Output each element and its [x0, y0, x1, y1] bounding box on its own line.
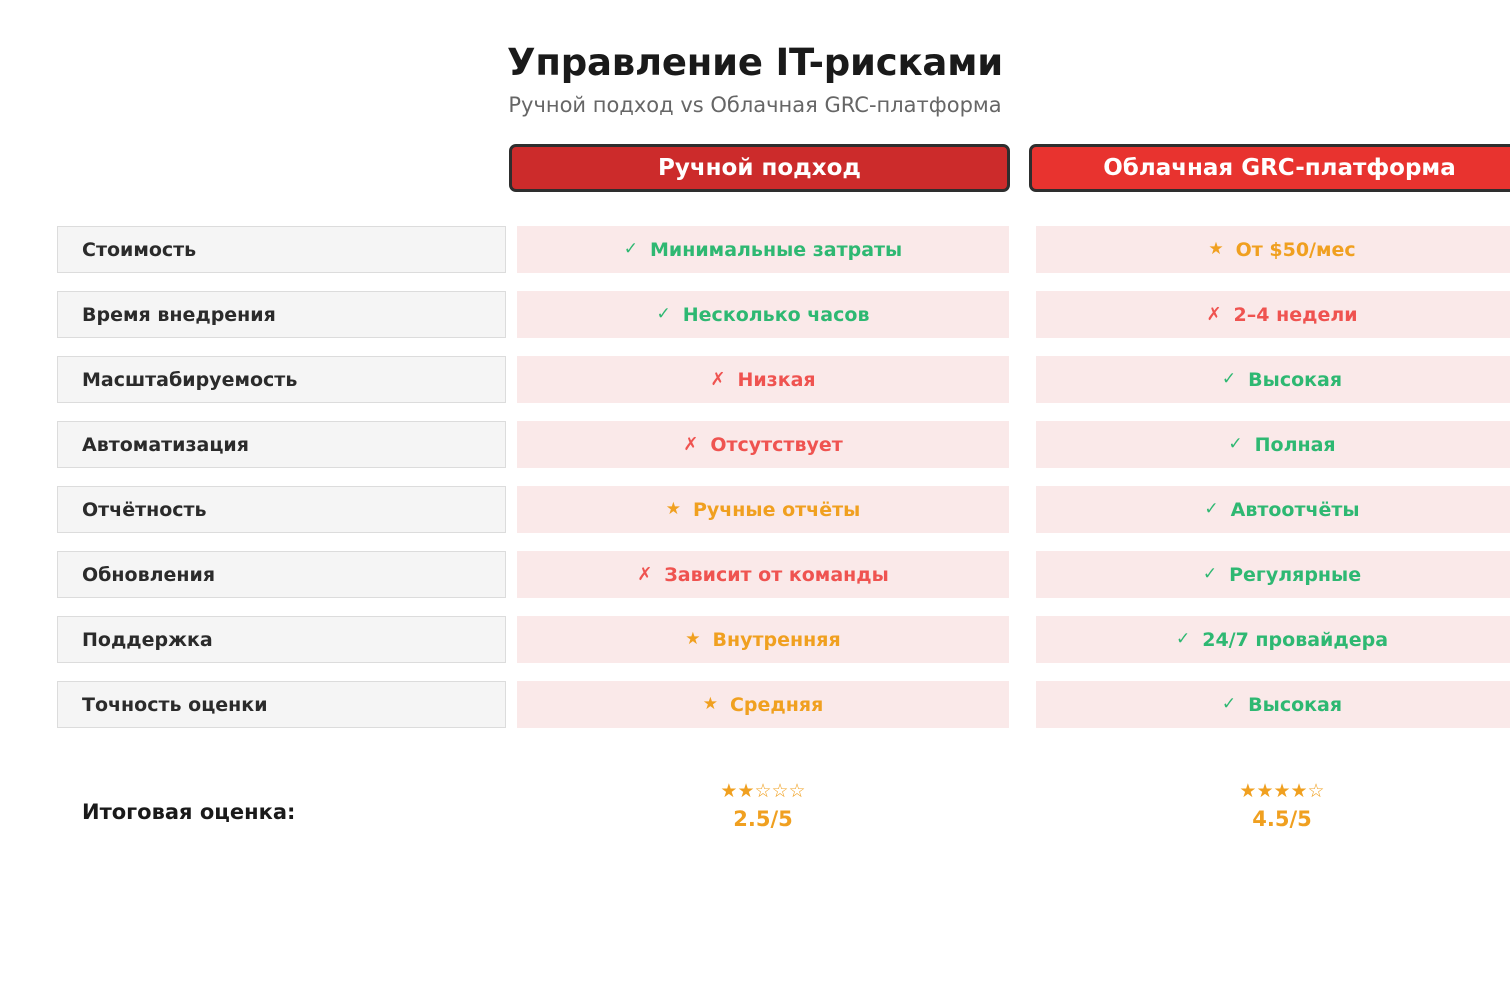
comparison-infographic: Управление IT-рисками Ручной подход vs О… [0, 0, 1510, 983]
cross-icon: ✗ [637, 566, 652, 584]
cell-text: 2–4 недели [1234, 304, 1358, 326]
table-row: Точность оценки ★ Средняя ✓ Высокая [0, 681, 1510, 746]
rating-score: 4.5/5 [1036, 809, 1510, 830]
cell-text: Внутренняя [713, 629, 841, 651]
star-icon: ★ [685, 631, 700, 648]
cell-manual: ★ Ручные отчёты [517, 486, 1009, 533]
cell-text: Полная [1255, 434, 1336, 456]
cross-icon: ✗ [1206, 306, 1221, 324]
cell-text: Отсутствует [710, 434, 842, 456]
column-header-cloud[interactable]: Облачная GRC-платформа [1029, 144, 1510, 192]
comparison-rows: Стоимость ✓ Минимальные затраты ★ От $50… [0, 226, 1510, 746]
page-title: Управление IT-рисками [0, 44, 1510, 81]
cell-text: От $50/мес [1236, 239, 1356, 261]
star-rating-icon: ★★★★☆ [1036, 782, 1510, 801]
cell-cloud: ✓ Высокая [1036, 681, 1510, 728]
cell-manual: ★ Внутренняя [517, 616, 1009, 663]
check-icon: ✓ [657, 306, 671, 323]
cell-cloud: ✓ Автоотчёты [1036, 486, 1510, 533]
table-row: Автоматизация ✗ Отсутствует ✓ Полная [0, 421, 1510, 486]
cell-cloud: ★ От $50/мес [1036, 226, 1510, 273]
table-row: Отчётность ★ Ручные отчёты ✓ Автоотчёты [0, 486, 1510, 551]
star-icon: ★ [666, 501, 681, 518]
cell-text: Высокая [1248, 369, 1342, 391]
cell-manual: ✗ Зависит от команды [517, 551, 1009, 598]
cell-text: Средняя [730, 694, 823, 716]
cross-icon: ✗ [683, 436, 698, 454]
cell-cloud: ✓ Регулярные [1036, 551, 1510, 598]
page-subtitle: Ручной подход vs Облачная GRC-платформа [0, 95, 1510, 116]
table-row: Масштабируемость ✗ Низкая ✓ Высокая [0, 356, 1510, 421]
cell-text: Минимальные затраты [650, 239, 902, 261]
cell-manual: ★ Средняя [517, 681, 1009, 728]
cell-text: Регулярные [1229, 564, 1361, 586]
cross-icon: ✗ [710, 371, 725, 389]
row-label: Отчётность [57, 486, 506, 533]
title-block: Управление IT-рисками Ручной подход vs О… [0, 44, 1510, 116]
star-rating-icon: ★★☆☆☆ [517, 782, 1009, 801]
cell-text: Автоотчёты [1231, 499, 1360, 521]
star-icon: ★ [703, 696, 718, 713]
check-icon: ✓ [1228, 436, 1242, 453]
cell-text: Высокая [1248, 694, 1342, 716]
table-row: Время внедрения ✓ Несколько часов ✗ 2–4 … [0, 291, 1510, 356]
cell-cloud: ✓ Полная [1036, 421, 1510, 468]
cell-manual: ✓ Минимальные затраты [517, 226, 1009, 273]
check-icon: ✓ [624, 241, 638, 258]
row-label: Обновления [57, 551, 506, 598]
rating-manual: ★★☆☆☆ 2.5/5 [517, 782, 1009, 830]
check-icon: ✓ [1222, 696, 1236, 713]
cell-text: Несколько часов [683, 304, 870, 326]
row-label: Поддержка [57, 616, 506, 663]
column-header-manual[interactable]: Ручной подход [509, 144, 1010, 192]
summary-label: Итоговая оценка: [82, 800, 295, 824]
cell-manual: ✗ Низкая [517, 356, 1009, 403]
cell-manual: ✗ Отсутствует [517, 421, 1009, 468]
star-icon: ★ [1208, 241, 1223, 258]
cell-text: Низкая [737, 369, 815, 391]
cell-manual: ✓ Несколько часов [517, 291, 1009, 338]
table-row: Поддержка ★ Внутренняя ✓ 24/7 провайдера [0, 616, 1510, 681]
cell-text: 24/7 провайдера [1202, 629, 1388, 651]
table-row: Стоимость ✓ Минимальные затраты ★ От $50… [0, 226, 1510, 291]
cell-text: Ручные отчёты [693, 499, 860, 521]
check-icon: ✓ [1204, 501, 1218, 518]
cell-cloud: ✓ 24/7 провайдера [1036, 616, 1510, 663]
rating-score: 2.5/5 [517, 809, 1009, 830]
check-icon: ✓ [1222, 371, 1236, 388]
row-label: Время внедрения [57, 291, 506, 338]
row-label: Стоимость [57, 226, 506, 273]
row-label: Точность оценки [57, 681, 506, 728]
cell-cloud: ✓ Высокая [1036, 356, 1510, 403]
table-row: Обновления ✗ Зависит от команды ✓ Регуля… [0, 551, 1510, 616]
cell-cloud: ✗ 2–4 недели [1036, 291, 1510, 338]
check-icon: ✓ [1203, 566, 1217, 583]
check-icon: ✓ [1176, 631, 1190, 648]
row-label: Масштабируемость [57, 356, 506, 403]
row-label: Автоматизация [57, 421, 506, 468]
rating-cloud: ★★★★☆ 4.5/5 [1036, 782, 1510, 830]
summary-footer: Итоговая оценка: ★★☆☆☆ 2.5/5 ★★★★☆ 4.5/5 [0, 782, 1510, 842]
cell-text: Зависит от команды [664, 564, 889, 586]
